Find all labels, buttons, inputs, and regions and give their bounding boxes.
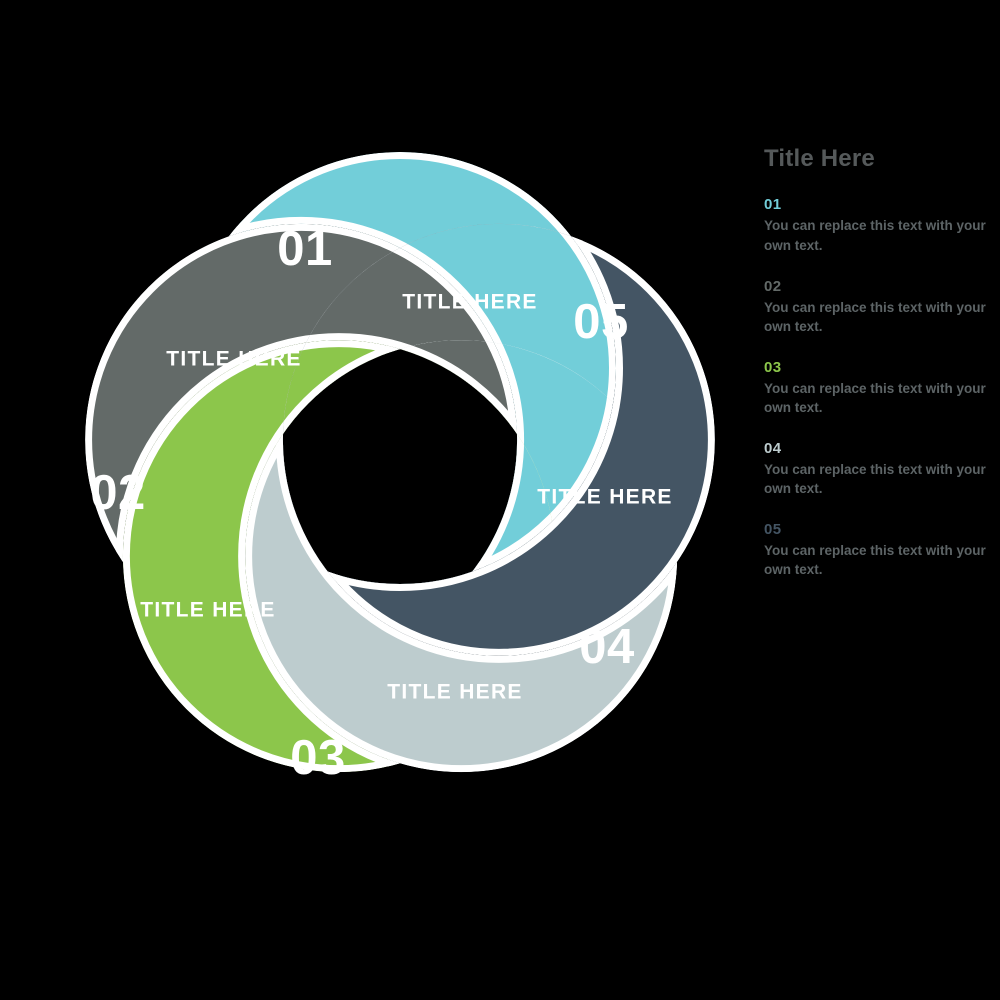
petal-number-01: 01 — [277, 222, 333, 276]
legend-title: Title Here — [764, 146, 988, 172]
legend-item-number: 03 — [764, 359, 988, 377]
legend-item-description: You can replace this text with your own … — [764, 379, 988, 418]
petal-title-03: TITLE HERE — [140, 599, 276, 622]
legend-item-list: 01You can replace this text with your ow… — [764, 196, 988, 580]
legend-item-number: 02 — [764, 278, 988, 296]
pinwheel-diagram: TITLE HERE01TITLE HERE02TITLE HERE03TITL… — [0, 0, 760, 1000]
legend-item-05[interactable]: 05You can replace this text with your ow… — [764, 521, 988, 580]
legend-item-04[interactable]: 04You can replace this text with your ow… — [764, 440, 988, 499]
legend-item-description: You can replace this text with your own … — [764, 541, 988, 580]
infographic-page: TITLE HERE01TITLE HERE02TITLE HERE03TITL… — [0, 0, 1000, 1000]
legend-item-03[interactable]: 03You can replace this text with your ow… — [764, 359, 988, 418]
petal-title-04: TITLE HERE — [387, 681, 523, 704]
petal-number-03: 03 — [290, 731, 346, 785]
petal-title-05: TITLE HERE — [537, 486, 673, 509]
legend-item-01[interactable]: 01You can replace this text with your ow… — [764, 196, 988, 255]
legend-item-description: You can replace this text with your own … — [764, 298, 988, 337]
petal-number-05: 05 — [573, 295, 629, 349]
petal-number-04: 04 — [579, 620, 635, 674]
legend: Title Here 01You can replace this text w… — [764, 146, 988, 580]
legend-item-02[interactable]: 02You can replace this text with your ow… — [764, 278, 988, 337]
legend-item-description: You can replace this text with your own … — [764, 460, 988, 499]
legend-item-number: 04 — [764, 440, 988, 458]
legend-item-description: You can replace this text with your own … — [764, 216, 988, 255]
legend-item-number: 01 — [764, 196, 988, 214]
petal-number-02: 02 — [90, 466, 146, 520]
legend-item-number: 05 — [764, 521, 988, 539]
petal-title-01: TITLE HERE — [402, 291, 538, 314]
petal-title-02: TITLE HERE — [166, 348, 302, 371]
